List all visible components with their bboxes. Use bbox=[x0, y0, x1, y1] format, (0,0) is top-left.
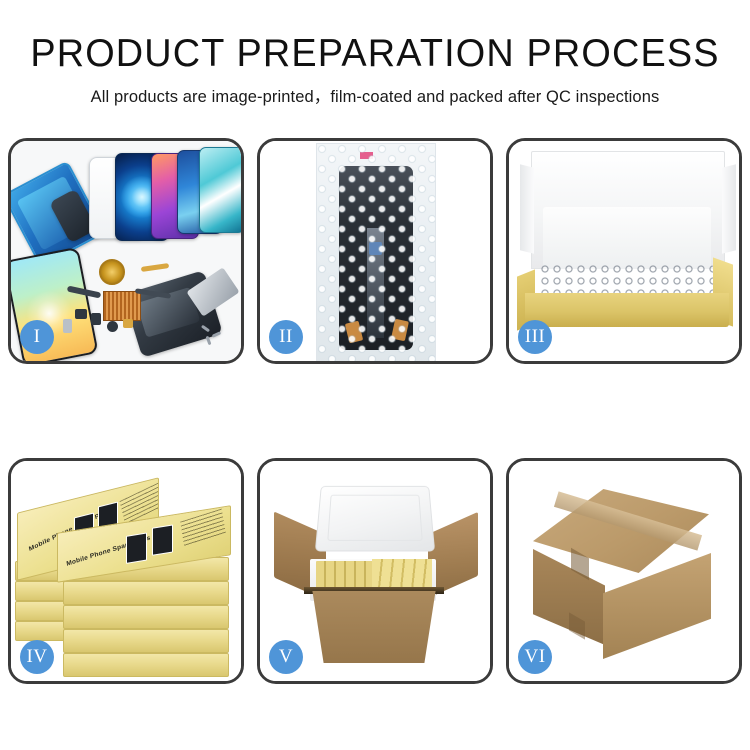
step-panel-5[interactable]: V bbox=[257, 458, 493, 684]
box-front-panel-graphic bbox=[525, 293, 729, 327]
step-panel-2[interactable]: II bbox=[257, 138, 493, 364]
step-badge-4: IV bbox=[20, 640, 54, 674]
stacked-box bbox=[63, 605, 229, 629]
small-part-d-graphic bbox=[63, 319, 72, 333]
step-badge-5: V bbox=[269, 640, 303, 674]
page-subtitle: All products are image-printed，film-coat… bbox=[0, 86, 750, 108]
small-part-b-graphic bbox=[91, 313, 101, 325]
step-badge-3: III bbox=[518, 320, 552, 354]
box-artwork-4 bbox=[152, 524, 173, 555]
small-part-c-graphic bbox=[107, 321, 118, 332]
teal-swirl-phone-graphic bbox=[199, 147, 241, 233]
step-panel-6[interactable]: VI bbox=[506, 458, 742, 684]
chip-array-graphic bbox=[103, 291, 141, 321]
bubble-texture-graphic bbox=[317, 144, 435, 361]
page-title: PRODUCT PREPARATION PROCESS bbox=[11, 32, 739, 76]
step-badge-1: I bbox=[20, 320, 54, 354]
small-part-a-graphic bbox=[75, 309, 87, 319]
styrofoam-lid-graphic bbox=[315, 486, 435, 552]
bubble-bag-graphic bbox=[316, 143, 436, 361]
step-panel-1[interactable]: I bbox=[8, 138, 244, 364]
speaker-coil-graphic bbox=[99, 259, 125, 285]
process-steps-grid: I II III bbox=[8, 138, 742, 684]
carton-body-graphic bbox=[304, 591, 444, 663]
page-header: PRODUCT PREPARATION PROCESS All products… bbox=[0, 0, 750, 108]
small-part-e-graphic bbox=[123, 319, 133, 328]
step-badge-6: VI bbox=[518, 640, 552, 674]
step-panel-3[interactable]: III bbox=[506, 138, 742, 364]
screws-graphic bbox=[201, 327, 227, 345]
stacked-box bbox=[63, 629, 229, 653]
step-panel-4[interactable]: Mobile Phone Spare Parts Mobile Phone Sp… bbox=[8, 458, 244, 684]
stacked-box bbox=[63, 653, 229, 677]
stacked-box bbox=[63, 581, 229, 605]
white-foam-graphic bbox=[543, 207, 711, 269]
step-badge-2: II bbox=[269, 320, 303, 354]
box-artwork-3 bbox=[126, 533, 147, 564]
